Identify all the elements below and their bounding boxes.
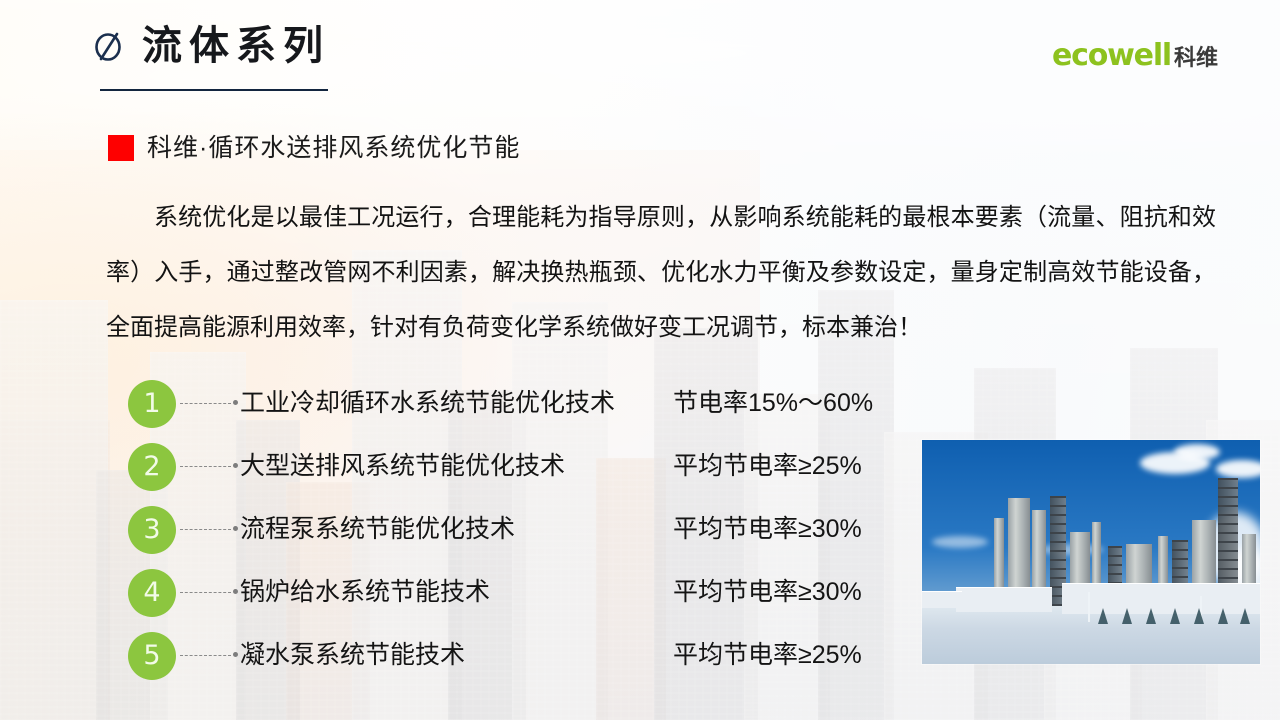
list-number-badge: 1 <box>128 380 176 428</box>
list-item-label: 流程泵系统节能优化技术 <box>240 517 515 542</box>
list-item-label: 大型送排风系统节能优化技术 <box>240 454 565 479</box>
list-item-value: 平均节电率≥30% <box>673 580 862 605</box>
red-square-bullet-icon <box>108 135 134 161</box>
slashed-circle-icon <box>92 29 126 63</box>
title-underline <box>100 89 328 91</box>
list-item[interactable]: 2 大型送排风系统节能优化技术 平均节电率≥25% <box>128 435 918 498</box>
slide: 流体系列 ecowell 科维 科维·循环水送排风系统优化节能 系统优化是以最佳… <box>0 0 1280 720</box>
list-item[interactable]: 3 流程泵系统节能优化技术 平均节电率≥30% <box>128 498 918 561</box>
list-item-value: 节电率15%～60% <box>673 391 873 416</box>
dashed-connector-icon <box>178 462 240 471</box>
body-paragraph: 系统优化是以最佳工况运行，合理能耗为指导原则，从影响系统能耗的最根本要素（流量、… <box>106 190 1216 355</box>
list-number-badge: 5 <box>128 632 176 680</box>
section-heading: 科维·循环水送排风系统优化节能 <box>108 135 520 161</box>
technology-list: 1 工业冷却循环水系统节能优化技术 节电率15%～60% 2 大型送排风系统节能… <box>128 372 918 687</box>
list-item-value: 平均节电率≥25% <box>673 643 862 668</box>
dashed-connector-icon <box>178 399 240 408</box>
logo-wordmark: ecowell <box>1052 41 1171 71</box>
page-header: 流体系列 <box>92 26 330 66</box>
list-item[interactable]: 1 工业冷却循环水系统节能优化技术 节电率15%～60% <box>128 372 918 435</box>
list-item[interactable]: 4 锅炉给水系统节能技术 平均节电率≥30% <box>128 561 918 624</box>
brand-logo: ecowell 科维 <box>1052 41 1218 71</box>
list-item-label: 凝水泵系统节能技术 <box>240 643 465 668</box>
dashed-connector-icon <box>178 651 240 660</box>
list-item-label: 工业冷却循环水系统节能优化技术 <box>240 391 615 416</box>
dashed-connector-icon <box>178 525 240 534</box>
list-item-value: 平均节电率≥25% <box>673 454 862 479</box>
list-number-badge: 2 <box>128 443 176 491</box>
photo-snow-ground <box>922 606 1260 664</box>
dashed-connector-icon <box>178 588 240 597</box>
list-item[interactable]: 5 凝水泵系统节能技术 平均节电率≥25% <box>128 624 918 687</box>
list-item-label: 锅炉给水系统节能技术 <box>240 580 490 605</box>
page-title: 流体系列 <box>142 26 330 66</box>
plant-photo <box>922 440 1260 664</box>
logo-chinese-name: 科维 <box>1174 47 1218 69</box>
list-number-badge: 3 <box>128 506 176 554</box>
list-number-badge: 4 <box>128 569 176 617</box>
list-item-value: 平均节电率≥30% <box>673 517 862 542</box>
section-title: 科维·循环水送排风系统优化节能 <box>147 136 520 161</box>
